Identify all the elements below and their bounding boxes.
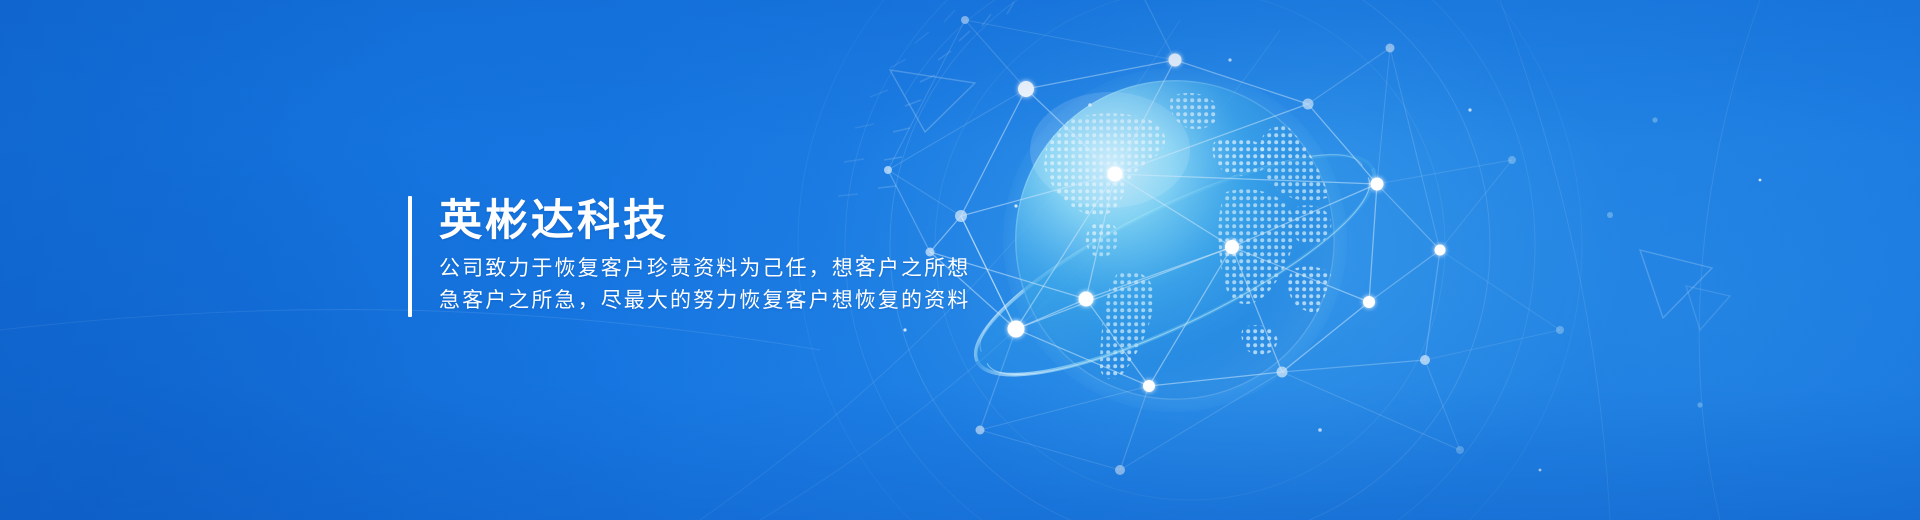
headline-text: 英彬达科技 公司致力于恢复客户珍贵资料为己任，想客户之所想 急客户之所急，尽最大… bbox=[439, 196, 970, 317]
accent-bar bbox=[408, 196, 412, 317]
subtitle-line-1: 公司致力于恢复客户珍贵资料为己任，想客户之所想 bbox=[439, 253, 970, 285]
page-title: 英彬达科技 bbox=[439, 196, 970, 247]
radar-tick-marks bbox=[878, 2, 1014, 188]
headline-group: 英彬达科技 公司致力于恢复客户珍贵资料为己任，想客户之所想 急客户之所急，尽最大… bbox=[408, 196, 970, 317]
hero-banner: 英彬达科技 公司致力于恢复客户珍贵资料为己任，想客户之所想 急客户之所急，尽最大… bbox=[0, 0, 1920, 520]
subtitle-line-2: 急客户之所急，尽最大的努力恢复客户想恢复的资料 bbox=[439, 285, 970, 317]
radar-tick-marks-outer bbox=[838, 10, 955, 196]
